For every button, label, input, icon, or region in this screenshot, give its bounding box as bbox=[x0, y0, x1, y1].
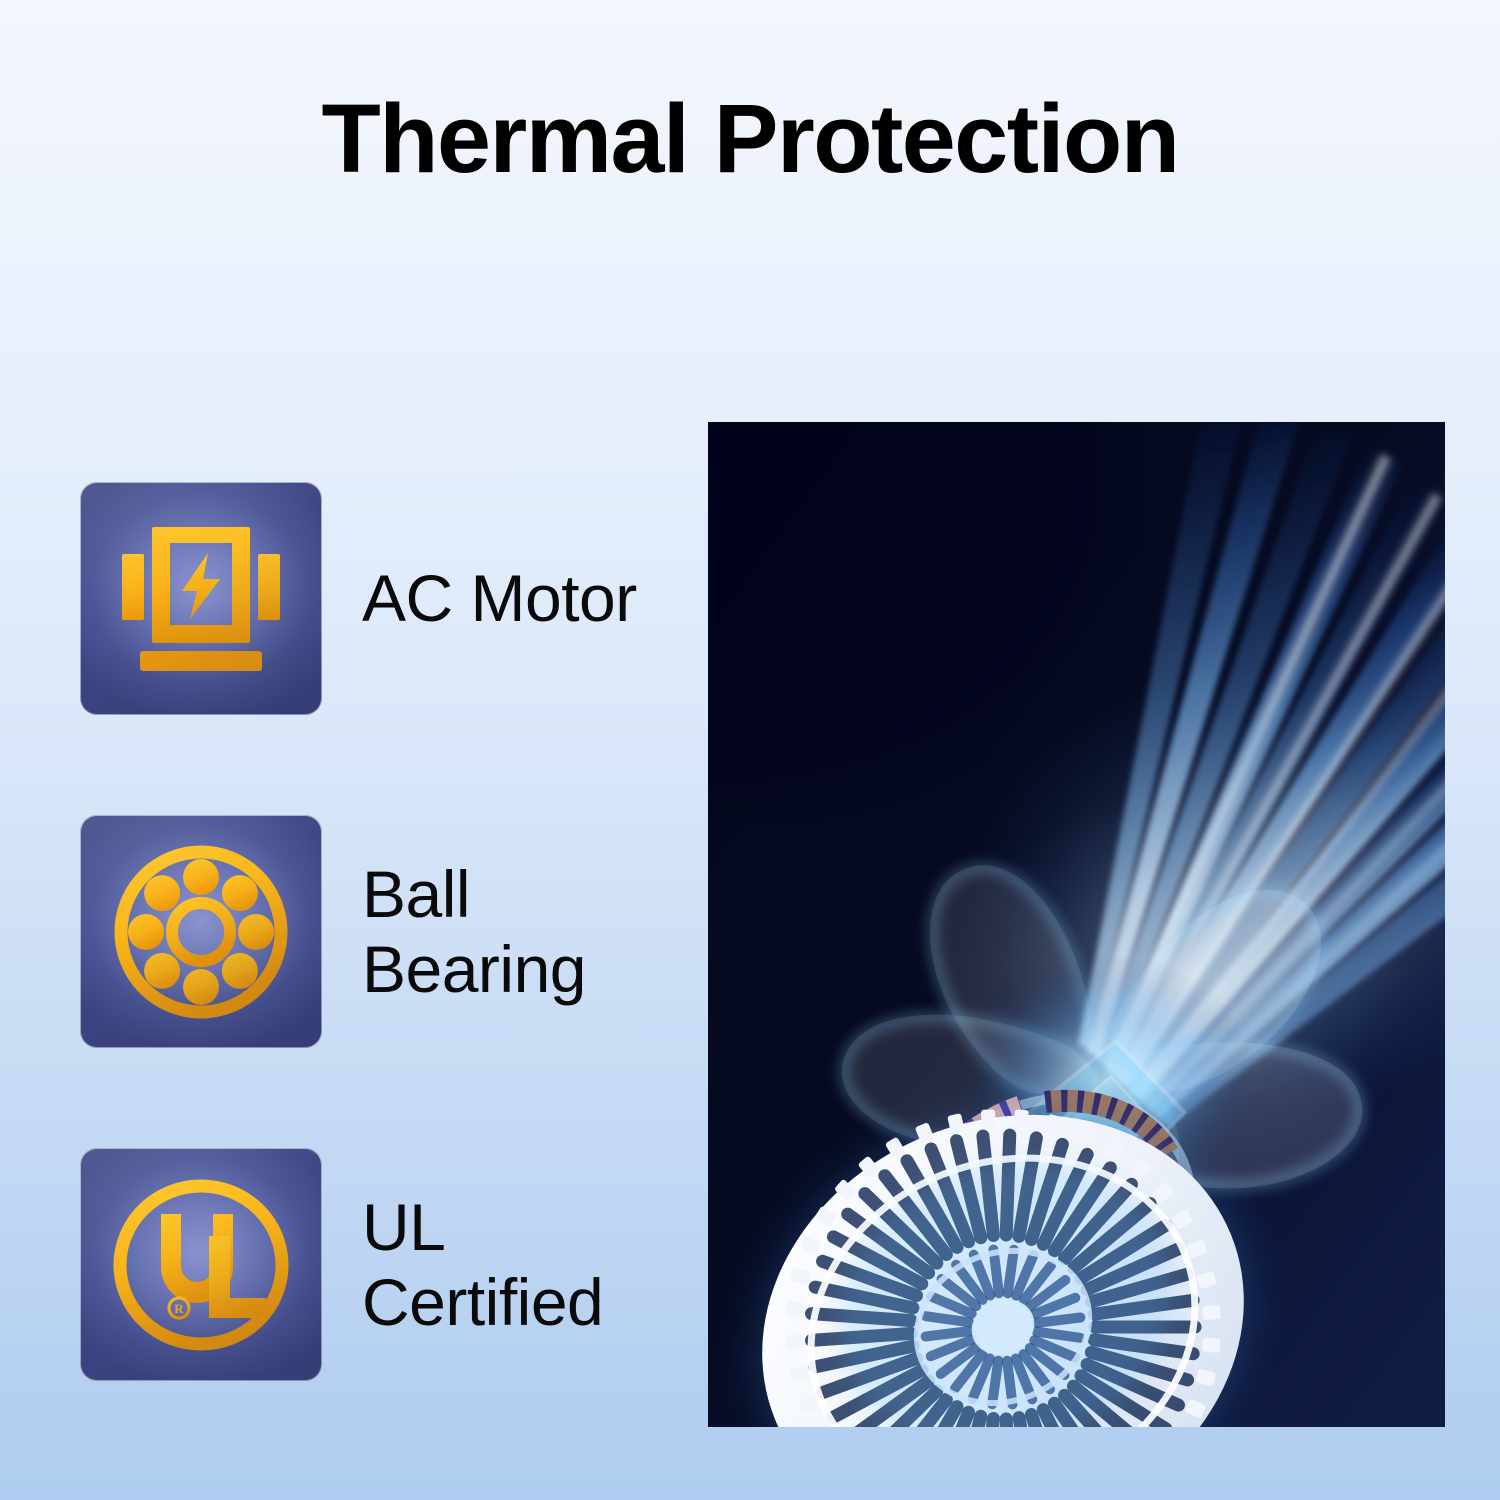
svg-text:R: R bbox=[174, 1301, 184, 1316]
feature-item-ul-certified: R UL Certified bbox=[80, 1148, 603, 1381]
feature-item-ac-motor: AC Motor bbox=[80, 482, 637, 715]
product-image bbox=[708, 422, 1445, 1427]
page-title: Thermal Protection bbox=[0, 88, 1500, 190]
infographic-page: Thermal Protection bbox=[0, 0, 1500, 1500]
feature-tile-ball-bearing bbox=[80, 815, 322, 1048]
feature-label-ball-bearing: Ball Bearing bbox=[362, 857, 586, 1006]
feature-tile-ac-motor bbox=[80, 482, 322, 715]
feature-item-ball-bearing: Ball Bearing bbox=[80, 815, 586, 1048]
feature-label-ul-certified: UL Certified bbox=[362, 1190, 603, 1339]
fan-motor-cutaway-photo bbox=[708, 422, 1445, 1427]
feature-tile-ul-certified: R bbox=[80, 1148, 322, 1381]
feature-label-ac-motor: AC Motor bbox=[362, 561, 637, 636]
